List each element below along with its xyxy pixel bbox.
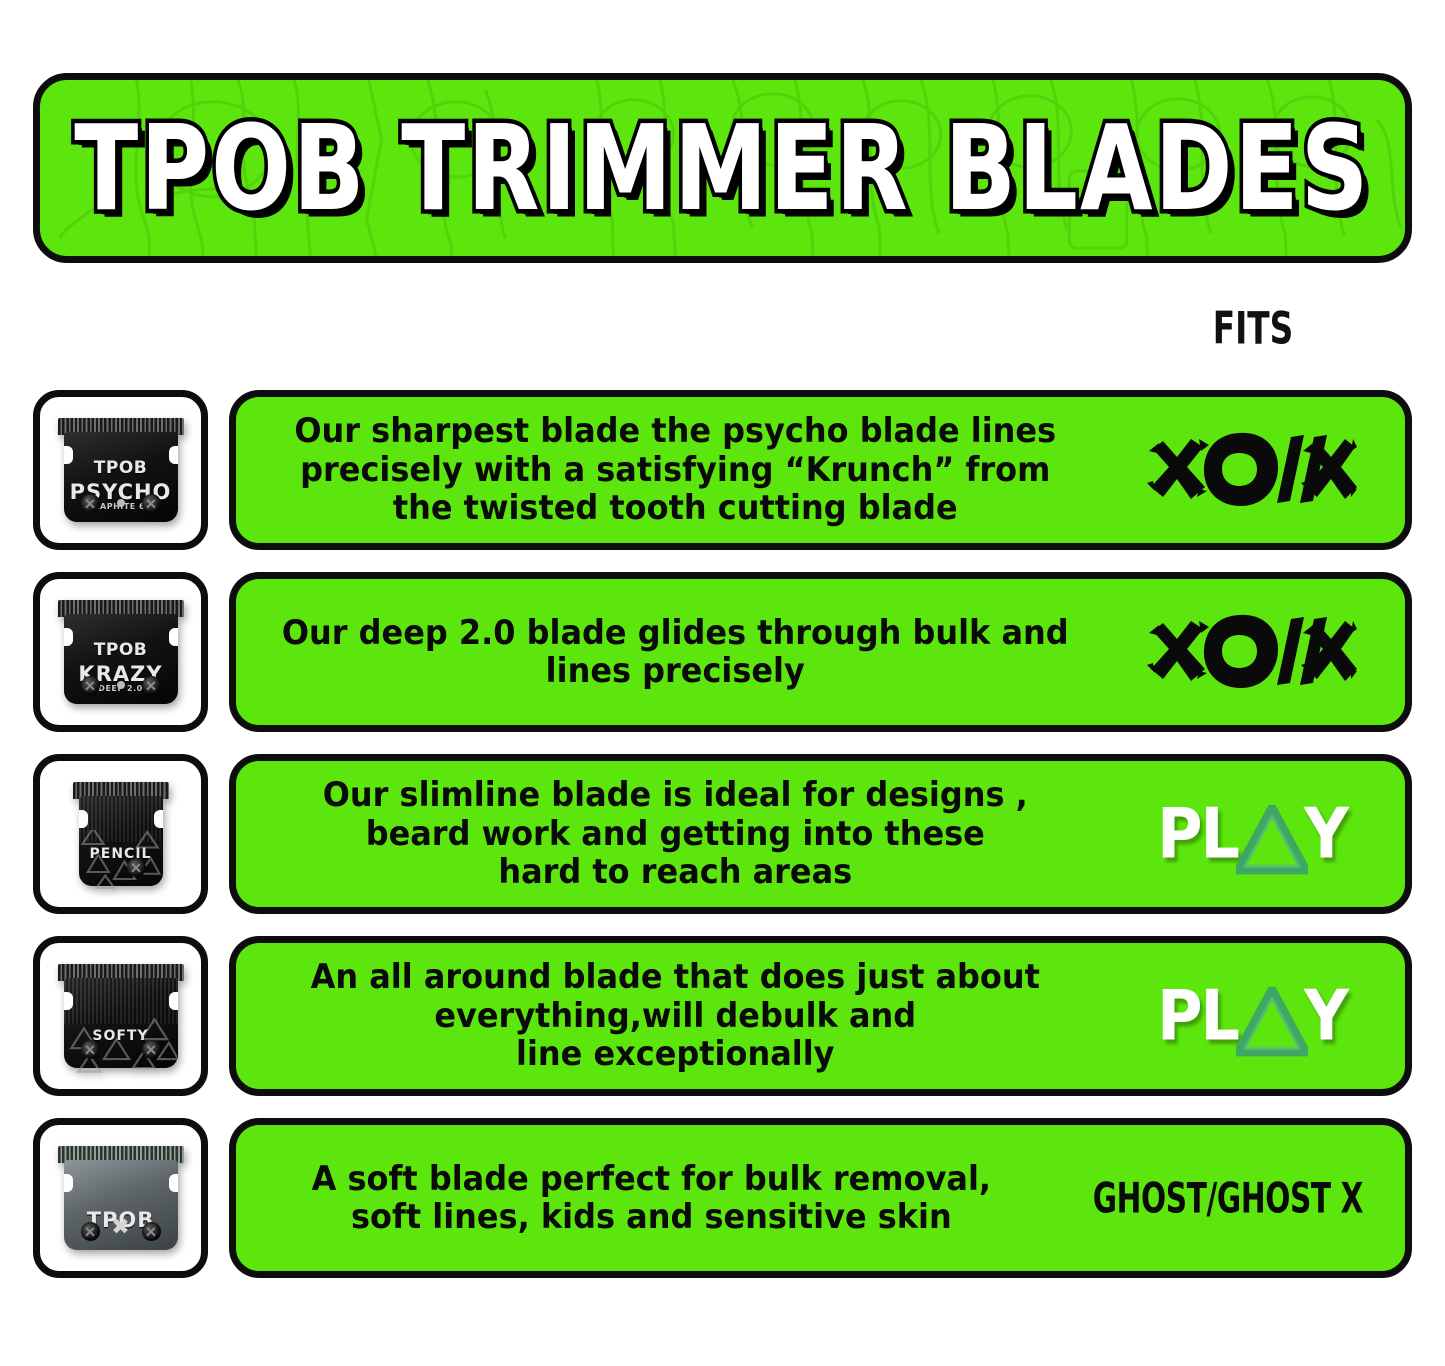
blade-screw-left-icon [81, 676, 100, 695]
blade-description-pill: A soft blade perfect for bulk removal, s… [229, 1118, 1412, 1278]
blade-body: TPOB PSYCHO GRAPHITE 6.9 [64, 432, 178, 522]
blade-description-text: Our slimline blade is ideal for designs … [262, 772, 1081, 895]
fits-logo-slot: PL Y [1107, 985, 1405, 1047]
play-logo-icon: PL Y [1157, 799, 1347, 868]
blade-screw-right-icon [127, 858, 146, 877]
blade-screw-left-icon [81, 1222, 100, 1241]
blade-brand-text: TPOB [64, 640, 178, 660]
fits-logo-slot: GHOST/GHOST X [1059, 1177, 1405, 1220]
blade-description-text: Our deep 2.0 blade glides through bulk a… [262, 610, 1081, 695]
blade-screw-right-icon [142, 1222, 161, 1241]
blade-screw-right-icon [142, 1040, 161, 1059]
blade-notch-left [79, 810, 88, 828]
blade-thumbnail-pencil: PENCIL [33, 754, 208, 914]
blade-center-dot-icon [117, 681, 125, 689]
blade-screw-right-icon [142, 676, 161, 695]
blade-screw-left-icon [81, 1040, 100, 1059]
blade-description-pill: An all around blade that does just about… [229, 936, 1412, 1096]
xoix-logo-icon [1147, 427, 1357, 513]
play-logo-pl: PL [1157, 981, 1238, 1050]
blade-body: SOFTY [64, 978, 178, 1068]
blade-thumbnail-ghost: TPOB ✖ [33, 1118, 208, 1278]
play-triangle-icon [1236, 805, 1308, 874]
blade-thumbnail-krazy: TPOB KRAZY DEEP 2.0 [33, 572, 208, 732]
fits-logo-slot [1107, 427, 1405, 513]
blade-description-pill: Our sharpest blade the psycho blade line… [229, 390, 1412, 550]
blade-body: TPOB ✖ [64, 1160, 178, 1250]
blade-model-text: PENCIL [79, 846, 163, 862]
header-banner: TPOB TRIMMER BLADES [33, 73, 1412, 263]
blade-description-text: Our sharpest blade the psycho blade line… [262, 408, 1081, 531]
blade-description-text: An all around blade that does just about… [262, 954, 1081, 1077]
blade-row: TPOB KRAZY DEEP 2.0 Our deep 2.0 blade g… [0, 572, 1445, 732]
fits-label: FITS [1212, 303, 1293, 355]
blade-image-psycho: TPOB PSYCHO GRAPHITE 6.9 [58, 418, 184, 522]
ghost-logo-label: GHOST/GHOST X [1093, 1173, 1363, 1222]
blade-thumbnail-softy: SOFTY [33, 936, 208, 1096]
play-logo-pl: PL [1157, 799, 1238, 868]
blade-screw-right-icon [142, 494, 161, 513]
blade-thumbnail-psycho: TPOB PSYCHO GRAPHITE 6.9 [33, 390, 208, 550]
play-logo-icon: PL Y [1157, 981, 1347, 1050]
blade-description-pill: Our slimline blade is ideal for designs … [229, 754, 1412, 914]
blade-rows-list: TPOB PSYCHO GRAPHITE 6.9 Our sharpest bl… [0, 390, 1445, 1300]
blade-row: SOFTY An all around blade that does just… [0, 936, 1445, 1096]
play-triangle-icon [1236, 987, 1308, 1056]
blade-notch-right [169, 992, 178, 1010]
fits-logo-slot [1107, 609, 1405, 695]
blade-description-text: A soft blade perfect for bulk removal, s… [261, 1156, 1035, 1241]
blade-image-ghost: TPOB ✖ [58, 1146, 184, 1250]
blade-image-softy: SOFTY [58, 964, 184, 1068]
blade-body: TPOB KRAZY DEEP 2.0 [64, 614, 178, 704]
blade-brand-text: TPOB [64, 458, 178, 478]
fits-logo-slot: PL Y [1107, 803, 1405, 865]
blade-notch-left [64, 992, 73, 1010]
blade-notch-right [169, 1174, 178, 1192]
blade-model-text: SOFTY [64, 1028, 178, 1044]
blade-description-pill: Our deep 2.0 blade glides through bulk a… [229, 572, 1412, 732]
blade-row: TPOB ✖ A soft blade perfect for bulk rem… [0, 1118, 1445, 1278]
blade-row: PENCIL Our slimline blade is ideal for d… [0, 754, 1445, 914]
blade-center-dot-icon [117, 499, 125, 507]
blade-x-mark-icon: ✖ [111, 1217, 129, 1239]
blade-row: TPOB PSYCHO GRAPHITE 6.9 Our sharpest bl… [0, 390, 1445, 550]
blade-image-pencil: PENCIL [73, 782, 169, 886]
blade-body: PENCIL [79, 796, 163, 886]
blade-screw-left-icon [81, 494, 100, 513]
play-logo-y: Y [1304, 799, 1347, 868]
play-logo-y: Y [1304, 981, 1347, 1050]
blade-image-krazy: TPOB KRAZY DEEP 2.0 [58, 600, 184, 704]
blade-notch-right [154, 810, 163, 828]
blade-notch-left [64, 1174, 73, 1192]
xoix-logo-icon [1147, 609, 1357, 695]
banner-title: TPOB TRIMMER BLADES [74, 100, 1370, 237]
